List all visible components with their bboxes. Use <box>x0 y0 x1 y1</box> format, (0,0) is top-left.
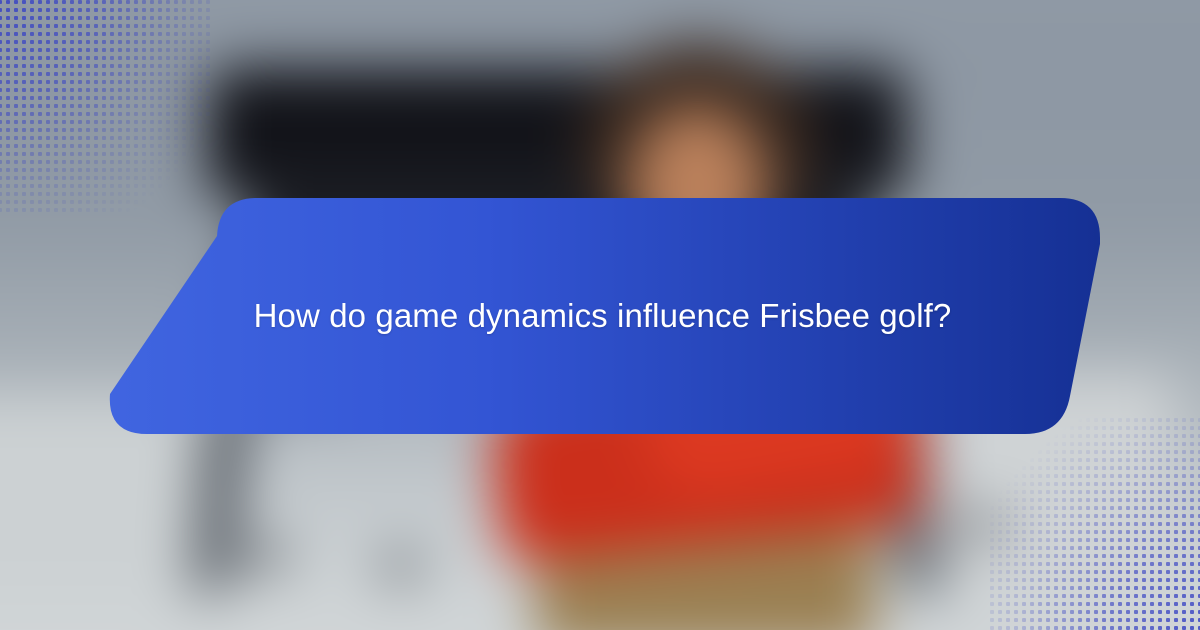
background-knob-b <box>383 554 419 582</box>
question-card: How do game dynamics influence Frisbee g… <box>95 192 1110 440</box>
social-card-canvas: How do game dynamics influence Frisbee g… <box>0 0 1200 630</box>
background-knob-c <box>966 511 1002 539</box>
question-text: How do game dynamics influence Frisbee g… <box>225 192 980 440</box>
background-knob-a <box>250 543 286 571</box>
